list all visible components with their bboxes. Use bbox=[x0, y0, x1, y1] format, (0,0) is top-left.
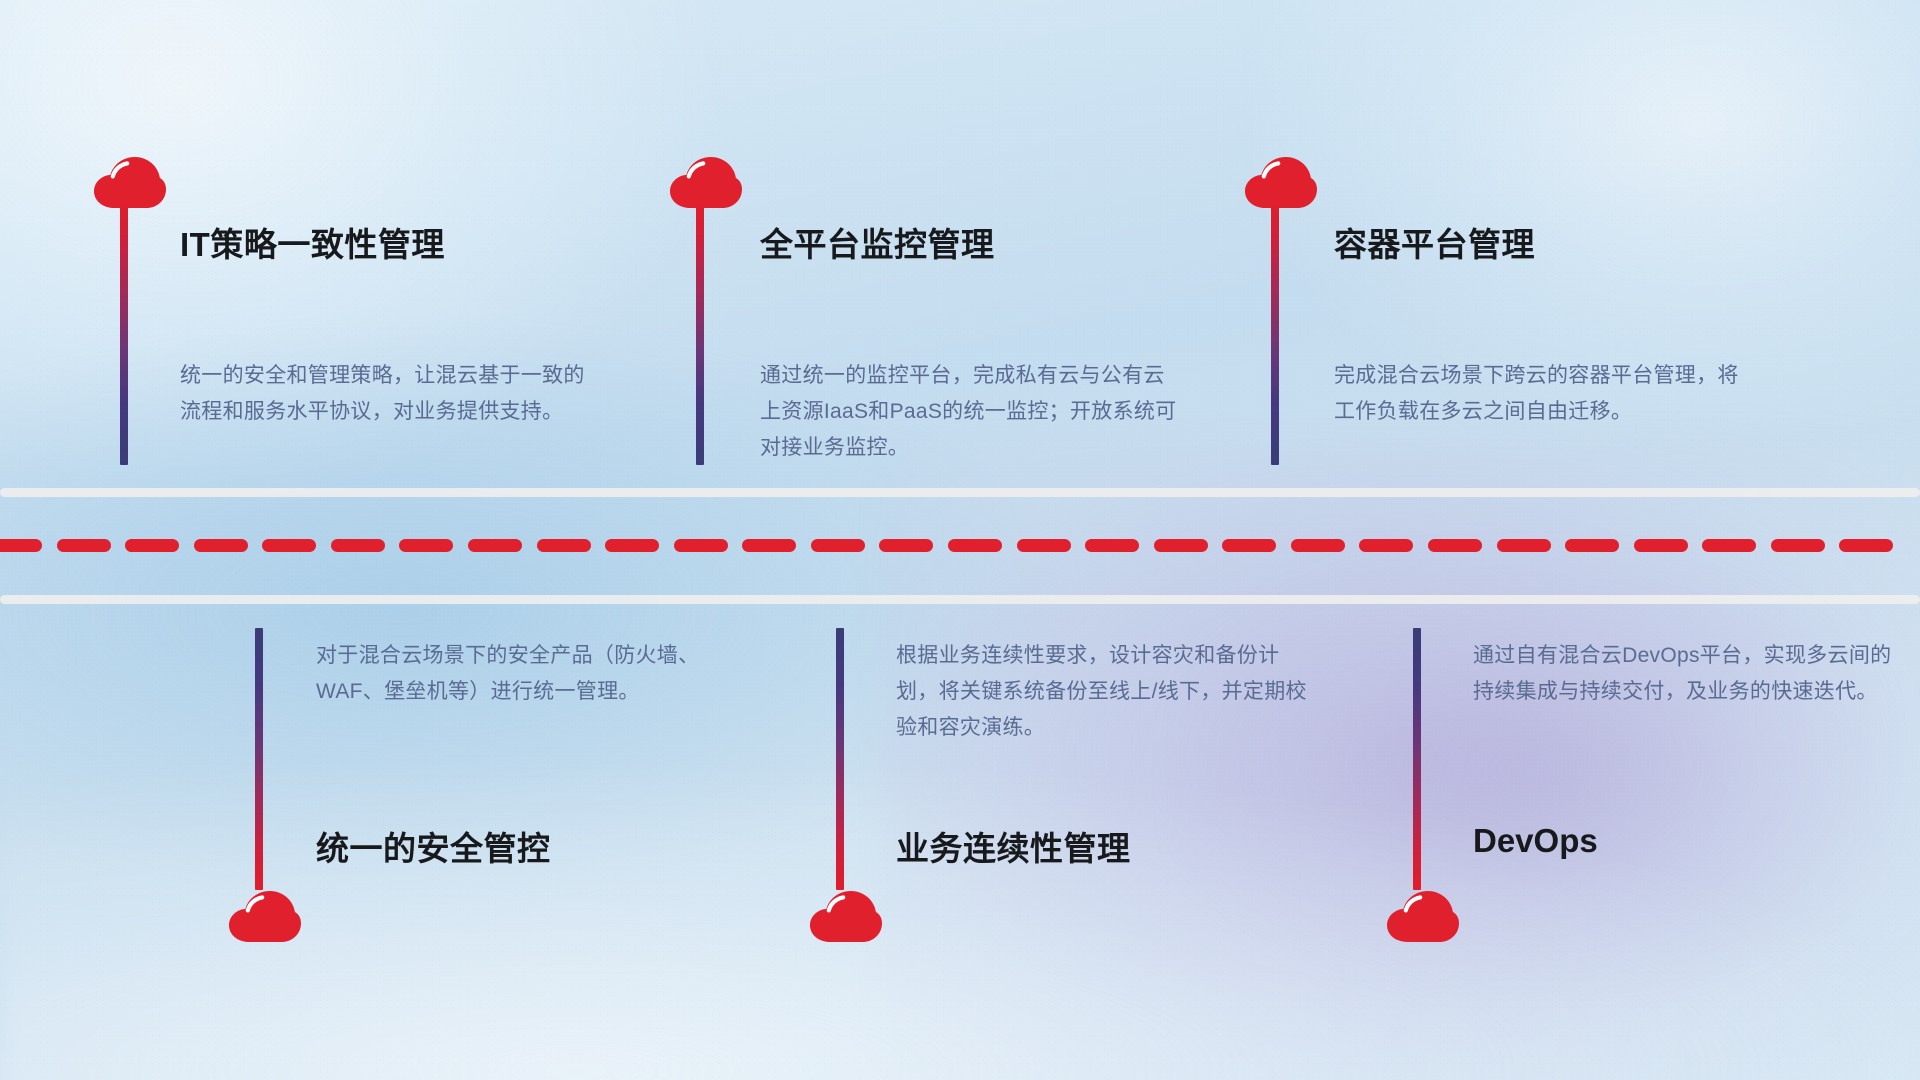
road-dash-segment bbox=[1771, 539, 1825, 552]
cloud-icon bbox=[1243, 156, 1319, 212]
connector-stem bbox=[120, 205, 128, 465]
road-dash-segment bbox=[1359, 539, 1413, 552]
road-dash-segment bbox=[1017, 539, 1071, 552]
road-rail-top bbox=[0, 488, 1920, 497]
top-paragraph-1: 统一的安全和管理策略，让混云基于一致的流程和服务水平协议，对业务提供支持。 bbox=[180, 358, 605, 430]
road-dash-segment bbox=[262, 539, 316, 552]
road-dash-segment bbox=[1497, 539, 1551, 552]
bottom-heading-2: 业务连续性管理 bbox=[896, 822, 1131, 870]
road-dash-segment bbox=[399, 539, 453, 552]
road-dash-segment bbox=[0, 539, 42, 552]
cloud-icon bbox=[92, 156, 168, 212]
connector-stem bbox=[255, 628, 263, 890]
cloud-icon bbox=[227, 890, 303, 946]
road-divider bbox=[0, 488, 1920, 604]
bottom-paragraph-2: 根据业务连续性要求，设计容灾和备份计划，将关键系统备份至线上/线下，并定期校验和… bbox=[896, 638, 1321, 746]
cloud-icon bbox=[808, 890, 884, 946]
top-heading-2: 全平台监控管理 bbox=[760, 218, 995, 266]
bottom-paragraph-3: 通过自有混合云DevOps平台，实现多云间的持续集成与持续交付，及业务的快速迭代… bbox=[1473, 638, 1898, 710]
cloud-icon bbox=[1385, 890, 1461, 946]
connector-stem bbox=[696, 205, 704, 465]
top-heading-1: IT策略一致性管理 bbox=[180, 218, 445, 266]
road-dash-segment bbox=[537, 539, 591, 552]
road-dash-segment bbox=[1222, 539, 1276, 552]
top-paragraph-3: 完成混合云场景下跨云的容器平台管理，将工作负载在多云之间自由迁移。 bbox=[1334, 358, 1759, 430]
top-paragraph-2: 通过统一的监控平台，完成私有云与公有云上资源IaaS和PaaS的统一监控；开放系… bbox=[760, 358, 1185, 466]
bottom-heading-1: 统一的安全管控 bbox=[316, 822, 551, 870]
road-dash-segment bbox=[125, 539, 179, 552]
road-dash-segment bbox=[194, 539, 248, 552]
connector-stem bbox=[1271, 205, 1279, 465]
road-dash-segment bbox=[948, 539, 1002, 552]
road-dash-segment bbox=[468, 539, 522, 552]
road-dash-segment bbox=[1702, 539, 1756, 552]
top-heading-3: 容器平台管理 bbox=[1334, 218, 1535, 266]
road-dash-segment bbox=[674, 539, 728, 552]
connector-stem bbox=[836, 628, 844, 890]
bottom-paragraph-1: 对于混合云场景下的安全产品（防火墙、WAF、堡垒机等）进行统一管理。 bbox=[316, 638, 741, 710]
infographic-canvas: IT策略一致性管理 统一的安全和管理策略，让混云基于一致的流程和服务水平协议，对… bbox=[0, 0, 1920, 1080]
bottom-heading-3: DevOps bbox=[1473, 822, 1598, 860]
road-dash-segment bbox=[1154, 539, 1208, 552]
cloud-icon bbox=[668, 156, 744, 212]
road-dash-segment bbox=[879, 539, 933, 552]
road-dash-segment bbox=[331, 539, 385, 552]
road-dash-segment bbox=[1291, 539, 1345, 552]
road-dash-segment bbox=[57, 539, 111, 552]
road-dashed-centerline bbox=[0, 539, 1920, 552]
road-dash-segment bbox=[1085, 539, 1139, 552]
road-dash-segment bbox=[605, 539, 659, 552]
road-dash-segment bbox=[1634, 539, 1688, 552]
road-dash-segment bbox=[1839, 539, 1893, 552]
road-rail-bottom bbox=[0, 595, 1920, 604]
road-dash-segment bbox=[811, 539, 865, 552]
connector-stem bbox=[1413, 628, 1421, 890]
road-dash-segment bbox=[1565, 539, 1619, 552]
road-dash-segment bbox=[1428, 539, 1482, 552]
road-dash-segment bbox=[742, 539, 796, 552]
